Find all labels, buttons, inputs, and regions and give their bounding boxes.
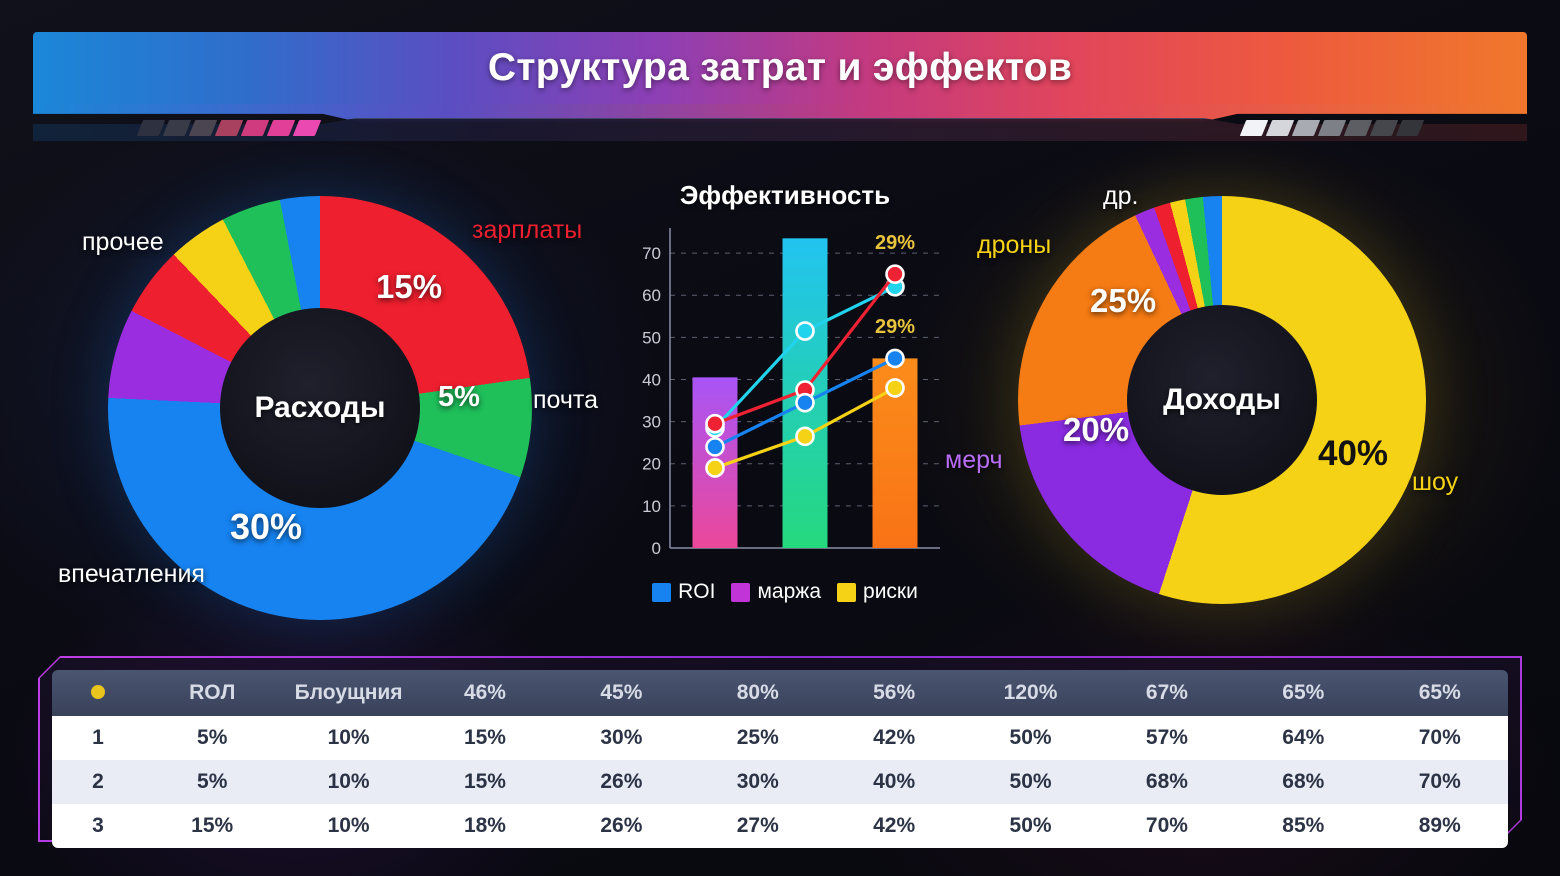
decor-slash (1370, 120, 1398, 136)
slice-pct-impressions: 30% (230, 506, 302, 548)
chart-plot-area: 01020304050607029%29% (610, 218, 960, 578)
series-marker (887, 379, 904, 396)
donut-ring-income: Доходы (1018, 196, 1426, 604)
table-body: 15%10%15%30%25%42%50%57%64%70%25%10%15%2… (52, 716, 1508, 848)
decor-slash (163, 120, 191, 136)
data-label: 29% (875, 316, 915, 338)
decor-slash (241, 120, 269, 136)
y-tick-label: 10 (642, 497, 661, 516)
table-header-marker[interactable] (52, 670, 144, 716)
table-cell: 42% (826, 804, 962, 848)
table-header-cell[interactable]: ROЛ (144, 670, 280, 716)
decor-slash (267, 120, 295, 136)
table-cell: 30% (690, 760, 826, 804)
y-tick-label: 20 (642, 455, 661, 474)
slice-pct-show: 40% (1318, 434, 1388, 474)
page-title: Структура затрат и эффектов (33, 32, 1527, 104)
table-cell: 50% (962, 760, 1098, 804)
y-tick-label: 30 (642, 413, 661, 432)
efficiency-chart: Эффективность 01020304050607029%29% ROIм… (610, 180, 960, 620)
table-cell: 64% (1235, 716, 1371, 760)
decor-slash (1292, 120, 1320, 136)
legend-item[interactable]: ROI (652, 580, 715, 604)
donut-center-label-income: Доходы (1127, 305, 1317, 495)
decor-slashes-right (1243, 120, 1421, 138)
table-row[interactable]: 315%10%18%26%27%42%50%70%85%89% (52, 804, 1508, 848)
table-cell: 26% (553, 804, 689, 848)
chart-title: Эффективность (610, 180, 960, 211)
donut-label-post: почта (533, 386, 598, 415)
legend-swatch-icon (652, 583, 671, 602)
decor-slash (1266, 120, 1294, 136)
table-cell: 10% (280, 804, 416, 848)
legend-label: ROI (678, 580, 715, 604)
donut-chart-expenses: Расходы 15% 5% 30% зарплаты почта впечат… (108, 196, 532, 620)
infographic-canvas: Структура затрат и эффектов Расходы 15% … (0, 0, 1560, 876)
table-cell: 70% (1372, 716, 1508, 760)
y-tick-label: 0 (652, 539, 661, 558)
legend-label: риски (863, 580, 918, 604)
table-cell: 68% (1099, 760, 1235, 804)
chart-legend: ROIмаржариски (610, 580, 960, 604)
table-header-row: ROЛБлоущния46%45%80%56%120%67%65%65% (52, 670, 1508, 716)
donut-chart-income: Доходы 40% 20% 25% шоу мерч дроны др. (1018, 196, 1426, 604)
series-marker (797, 394, 814, 411)
legend-item[interactable]: маржа (731, 580, 821, 604)
banner-plate: Структура затрат и эффектов (33, 32, 1527, 104)
table-header-cell[interactable]: 80% (690, 670, 826, 716)
y-tick-label: 70 (642, 244, 661, 263)
table-cell: 70% (1372, 760, 1508, 804)
table-cell: 15% (417, 760, 553, 804)
y-tick-label: 60 (642, 286, 661, 305)
table-cell: 57% (1099, 716, 1235, 760)
series-marker (887, 350, 904, 367)
table-header: ROЛБлоущния46%45%80%56%120%67%65%65% (52, 670, 1508, 716)
decor-slash (189, 120, 217, 136)
decor-slashes-left (140, 120, 318, 138)
table-cell: 5% (144, 760, 280, 804)
legend-swatch-icon (837, 583, 856, 602)
slice-pct-drones: 25% (1090, 282, 1156, 320)
series-marker (797, 428, 814, 445)
decor-slash (293, 120, 321, 136)
series-marker (707, 459, 724, 476)
legend-label: маржа (757, 580, 821, 604)
table-header-cell[interactable]: 65% (1235, 670, 1371, 716)
table-row-index: 1 (52, 716, 144, 760)
table-header-cell[interactable]: 120% (962, 670, 1098, 716)
decor-slash (1318, 120, 1346, 136)
table-cell: 27% (690, 804, 826, 848)
slice-pct-merch: 20% (1063, 411, 1129, 449)
data-label: 29% (875, 232, 915, 254)
table-header-cell[interactable]: 46% (417, 670, 553, 716)
table-row[interactable]: 15%10%15%30%25%42%50%57%64%70% (52, 716, 1508, 760)
table-cell: 15% (144, 804, 280, 848)
donut-label-other: прочее (82, 228, 164, 257)
table-row-index: 3 (52, 804, 144, 848)
donut-center-label-expenses: Расходы (220, 308, 420, 508)
legend-item[interactable]: риски (837, 580, 918, 604)
donut-label-impressions: впечатления (58, 560, 205, 589)
series-marker (797, 323, 814, 340)
donut-label-merch: мерч (945, 446, 1002, 475)
metrics-table[interactable]: ROЛБлоущния46%45%80%56%120%67%65%65% 15%… (52, 670, 1508, 848)
y-tick-label: 50 (642, 328, 661, 347)
table-header-cell[interactable]: Блоущния (280, 670, 416, 716)
table-cell: 26% (553, 760, 689, 804)
table-cell: 89% (1372, 804, 1508, 848)
table-row-index: 2 (52, 760, 144, 804)
decor-slash (1396, 120, 1424, 136)
table-cell: 70% (1099, 804, 1235, 848)
donut-label-salaries: зарплаты (472, 216, 582, 245)
table-cell: 5% (144, 716, 280, 760)
slice-pct-salaries: 15% (376, 268, 442, 306)
table-cell: 50% (962, 716, 1098, 760)
table-cell: 85% (1235, 804, 1371, 848)
donut-label-drones: дроны (977, 231, 1051, 260)
status-dot-icon (91, 685, 105, 699)
decor-slash (215, 120, 243, 136)
legend-swatch-icon (731, 583, 750, 602)
table-cell: 50% (962, 804, 1098, 848)
table-header-cell[interactable]: 45% (553, 670, 689, 716)
decor-slash (1344, 120, 1372, 136)
table-cell: 25% (690, 716, 826, 760)
table-header-cell[interactable]: 67% (1099, 670, 1235, 716)
table-header-cell[interactable]: 56% (826, 670, 962, 716)
table-cell: 40% (826, 760, 962, 804)
y-tick-label: 40 (642, 370, 661, 389)
donut-label-show: шоу (1412, 468, 1458, 497)
series-marker (707, 415, 724, 432)
decor-slash (1240, 120, 1268, 136)
table-cell: 42% (826, 716, 962, 760)
decor-slash (137, 120, 165, 136)
table-cell: 18% (417, 804, 553, 848)
table-cell: 68% (1235, 760, 1371, 804)
donut-label-other: др. (1103, 182, 1138, 211)
table-header-cell[interactable]: 65% (1372, 670, 1508, 716)
table-cell: 10% (280, 760, 416, 804)
series-marker (887, 266, 904, 283)
table-cell: 30% (553, 716, 689, 760)
slice-pct-post: 5% (438, 381, 480, 414)
table-row[interactable]: 25%10%15%26%30%40%50%68%68%70% (52, 760, 1508, 804)
table-cell: 10% (280, 716, 416, 760)
table-cell: 15% (417, 716, 553, 760)
header-banner: Структура затрат и эффектов (0, 0, 1560, 150)
series-marker (707, 438, 724, 455)
